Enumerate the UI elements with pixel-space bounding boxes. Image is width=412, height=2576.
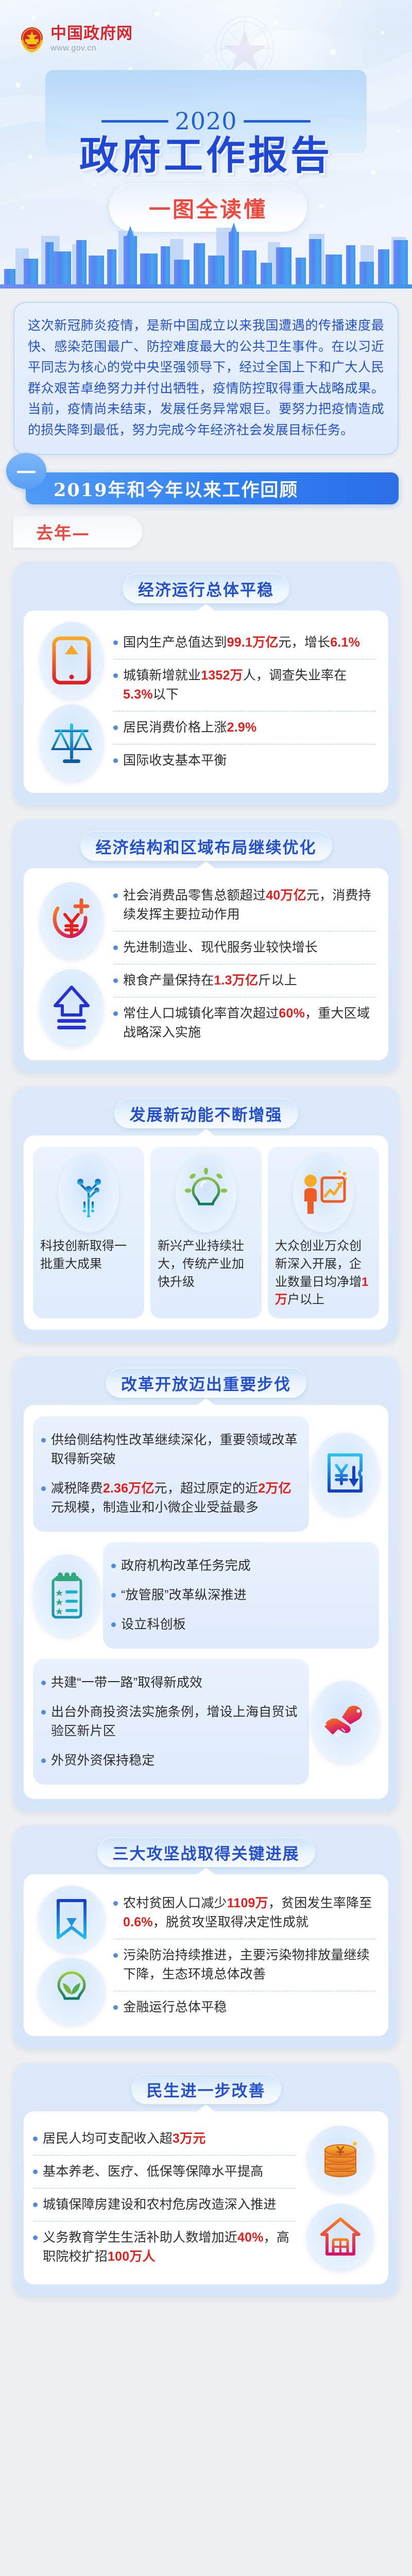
list-item: “放管服”改革纵深推进 [111,1581,371,1610]
bullet-dot [41,1438,46,1443]
card-title: 改革开放迈出重要步伐 [121,1371,291,1395]
coin-stack-icon [307,2126,374,2193]
bullet-highlight: 1.3万亿 [214,973,258,988]
bullet-highlight: 2万亿 [258,1481,291,1496]
card-title: 发展新动能不断增强 [130,1102,283,1125]
bullet-dot [33,2170,38,2174]
handshake-icon [311,1681,379,1763]
bullet-dot [111,1564,116,1568]
lightbulb-icon [176,1154,236,1232]
snow-dot [330,49,336,55]
bullet-text: 减税降费 [51,1481,103,1496]
bullet-dot [41,1758,46,1763]
list-item: 常住人口城镇化率首次超过60%，重大区域战略深入实施 [113,997,376,1049]
bullet-text: 金融运行总体平稳 [123,2000,227,2014]
card-title: 经济结构和区域布局继续优化 [96,835,317,858]
bullet-text: 出台外商投资法实施条例，增设上海自贸试验区新片区 [51,1705,298,1738]
hero-header: 中国政府网 www.gov.cn 2020 政府工作报告 一图全读懂 [0,0,412,289]
page-title: 政府工作报告 [0,124,412,180]
card-notch [197,604,215,611]
icon-column [33,1886,110,2025]
bullet-text: 以下 [153,687,179,702]
bullet-highlight: 40万亿 [266,888,306,903]
list-item: 政府机构改革任务完成 [111,1551,371,1581]
urbanization-arrow-icon [40,969,104,1046]
list-item: 居民人均可支配收入超3万元 [33,2123,296,2155]
bullet-text: 居民消费价格上涨 [123,720,227,735]
list-item: 城镇新增就业1352万人，调查失业率在5.3%以下 [113,659,376,711]
card-title-pill: 发展新动能不断增强 [114,1098,298,1128]
trio-item-emerging-industry: 新兴产业持续壮大，传统产业加快升级 [150,1147,262,1318]
checklist-icon [33,1554,101,1637]
intro-section: 这次新冠肺炎疫情，是新中国成立以来我国遭遇的传播速度最快、感染范围最广、防控难度… [0,289,412,455]
bullet-dot [113,1011,118,1016]
infographic-page: 中国政府网 www.gov.cn 2020 政府工作报告 一图全读懂 [0,0,412,2317]
list-item: 城镇保障房建设和农村危房改造深入推进 [33,2188,296,2221]
list-item: 出台外商投资法实施条例，增设上海自贸试验区新片区 [41,1698,301,1746]
card-notch [197,1398,215,1405]
bullet-text: 社会消费品零售总额超过 [123,888,266,903]
list-item: 粮食产量保持在1.3万亿斤以上 [113,964,376,997]
bullet-dot [113,640,118,645]
panel-text: 政府机构改革任务完成 “放管服”改革纵深推进 设立科创板 [103,1542,379,1649]
bullet-dot [113,758,118,763]
list-item: 居民消费价格上涨2.9% [113,711,376,744]
bullet-list: 社会消费品零售总额超过40万亿元，消费持续发挥主要拉动作用 先进制造业、现代服务… [113,879,379,1049]
trio-text-span: 大众创业万众创新深入开展，企业数量日均净增 [275,1239,362,1289]
trio-text-span: 新兴产业持续壮大，传统产业加快升级 [158,1239,244,1289]
bullet-highlight: 1109万 [227,1896,268,1910]
bullet-text: 先进制造业、现代服务业较快增长 [123,940,318,955]
bullet-highlight: 0.6% [123,1915,153,1929]
bullet-text: “放管服”改革纵深推进 [121,1588,247,1602]
snow-dot [21,206,24,210]
trio-text-span: 户以上 [287,1293,324,1307]
bullet-text: 城镇新增就业 [123,668,201,683]
list-item: 社会消费品零售总额超过40万亿元，消费持续发挥主要拉动作用 [113,879,376,931]
city-skyline-graphic [0,222,412,289]
card-new-drivers: 发展新动能不断增强 [0,1073,412,1342]
trio-text-span: 科技创新取得一批重大成果 [40,1239,127,1271]
snow-dot [93,183,96,186]
bullet-text: 污染防治持续推进，主要污染物排放量继续下降，生态环境总体改善 [123,1948,370,1981]
intro-card: 这次新冠肺炎疫情，是新中国成立以来我国遭遇的传播速度最快、感染范围最广、防控难度… [13,302,399,455]
card-title: 经济运行总体平稳 [138,577,274,600]
bullet-dot [113,1901,118,1906]
section-banner[interactable]: 2019年和今年以来工作回顾 [26,472,399,504]
bullet-highlight: 5.3% [123,687,153,702]
bullet-list: 农村贫困人口减少1109万，贫困发生率降至0.6%，脱贫攻坚取得决定性成就 污染… [113,1886,379,2025]
list-item: 先进制造业、现代服务业较快增长 [113,931,376,964]
bullet-list: 国内生产总值达到99.1万亿元，增长6.1% 城镇新增就业1352万人，调查失业… [113,622,379,782]
tax-cut-icon [311,1433,379,1515]
card-title-pill: 三大攻坚战取得关键进展 [97,1837,315,1867]
card-notch [197,1129,215,1136]
panel-text: 共建“一带一路”取得新成效 出台外商投资法实施条例，增设上海自贸试验区新片区 外… [33,1659,309,1785]
icon-column [302,2123,379,2273]
section-title: 2019年和今年以来工作回顾 [54,476,298,502]
bullet-highlight: 100万人 [108,2249,156,2264]
bullet-text: 元，超过原定的近 [154,1481,259,1496]
card-livelihood: 民生进一步改善 [0,2048,412,2297]
bullet-dot [113,673,118,678]
card-notch [197,1868,215,1875]
bullet-dot [41,1486,46,1491]
bullet-highlight: 60% [279,1006,305,1021]
bullet-text: 国内生产总值达到 [123,635,227,650]
card-notch [197,861,215,869]
panel-opening-up: 共建“一带一路”取得新成效 出台外商投资法实施条例，增设上海自贸试验区新片区 外… [33,1659,379,1785]
snow-dot [154,11,160,17]
list-item: 污染防治持续推进，主要污染物排放量继续下降，生态环境总体改善 [113,1939,376,1991]
subsection-tag: 去年— [13,516,142,548]
trio-item-text: 科技创新取得一批重大成果 [38,1238,139,1274]
bullet-text: 人，调查失业率在 [243,668,347,683]
bullet-text: 基本养老、医疗、低保等保障水平提高 [43,2164,263,2179]
trio-item-text: 新兴产业持续壮大，传统产业加快升级 [156,1238,256,1291]
bullet-highlight: 2.9% [227,720,257,735]
bullet-text: 农村贫困人口减少 [123,1896,227,1910]
bullet-text: 斤以上 [258,973,297,988]
bullet-dot [113,1953,118,1958]
bullet-highlight: 99.1万亿 [227,635,279,650]
bullet-dot [41,1681,46,1685]
bullet-highlight: 1352万 [201,668,243,683]
trio-group: 科技创新取得一批重大成果 [33,1147,379,1318]
bullet-text: 元规模，制造业和小微企业受益最多 [51,1500,259,1515]
card-economy-stable: 经济运行总体平稳 [0,548,412,805]
bullet-text: 居民人均可支配收入超 [43,2131,173,2146]
trio-item-mass-entrepreneurship: 大众创业万众创新深入开展，企业数量日均净增1万户以上 [268,1147,379,1318]
bullet-dot [33,2235,38,2240]
balance-scale-icon [40,704,104,782]
bullet-highlight: 3万元 [173,2131,206,2146]
rule-left [101,120,168,123]
green-leaf-bulb-icon [38,1958,105,2025]
snow-dot [319,204,324,208]
card-title: 民生进一步改善 [147,2078,266,2101]
card-three-battles: 三大攻坚战取得关键进展 [0,1811,412,2048]
bullet-highlight: 6.1% [330,635,360,650]
housing-education-icon [307,2204,374,2270]
bullet-text: 义务教育学生生活补助人数增加近 [43,2230,237,2245]
bullet-text: 元，增长 [278,635,330,650]
snow-dot [15,82,21,88]
list-item: 国内生产总值达到99.1万亿元，增长6.1% [113,626,376,659]
panel-supply-side-reform: 供给侧结构性改革继续深化，重要领域改革取得新突破 减税降费2.36万亿元，超过原… [33,1416,379,1532]
bullet-dot [41,1710,46,1715]
bullet-text: 粮食产量保持在 [123,973,214,988]
trio-item-tech-innovation: 科技创新取得一批重大成果 [33,1147,144,1318]
icon-column [33,879,110,1049]
bullet-highlight: 2.36万亿 [103,1481,154,1496]
card-title-pill: 民生进一步改善 [131,2074,281,2104]
card-title-pill: 改革开放迈出重要步伐 [106,1368,306,1398]
list-item: 减税降费2.36万亿元，超过原定的近2万亿元规模，制造业和小微企业受益最多 [41,1474,301,1522]
presenter-chart-icon [293,1154,354,1232]
bullet-text: 设立科创板 [121,1617,186,1632]
bottom-spacer [0,2297,412,2317]
list-item: 供给侧结构性改革继续深化，重要领域改革取得新突破 [41,1426,301,1474]
bullet-text: 供给侧结构性改革继续深化，重要领域改革取得新突破 [51,1433,298,1466]
bullet-dot [111,1622,116,1627]
card-reform-opening: 改革开放迈出重要步伐 供给侧结构性改革继续深化，重要领域改革取得新突破 减税降费… [0,1342,412,1811]
bullet-text: 国际收支基本平衡 [123,753,227,768]
card-title-pill: 经济运行总体平稳 [123,573,289,603]
card-notch [197,2105,215,2112]
circuit-tech-icon [58,1154,119,1232]
list-item: 共建“一带一路”取得新成效 [41,1668,301,1698]
hero-subtitle: 一图全读懂 [149,192,267,224]
bullet-dot [113,2005,118,2010]
bullet-text: 常住人口城镇化率首次超过 [123,1006,279,1021]
gdp-up-arrow-icon [40,622,104,699]
list-item: 农村贫困人口减少1109万，贫困发生率降至0.6%，脱贫攻坚取得决定性成就 [113,1887,376,1939]
bullet-text: 政府机构改革任务完成 [121,1558,251,1573]
intro-paragraph: 这次新冠肺炎疫情，是新中国成立以来我国遭遇的传播速度最快、感染范围最广、防控难度… [28,315,384,440]
section-number: 一 [16,457,36,485]
icon-column [33,622,110,782]
trio-item-text: 大众创业万众创新深入开展，企业数量日均净增1万户以上 [273,1238,374,1309]
yuan-growth-icon [40,882,104,959]
snow-dot [31,15,36,20]
bullet-dot [33,2202,38,2207]
bullet-dot [113,893,118,898]
bullet-dot [113,945,118,950]
rule-right [244,120,311,123]
bullet-dot [111,1593,116,1598]
list-item: 义务教育学生生活补助人数增加近40%，高职院校扩招100万人 [33,2221,296,2273]
list-item: 外贸外资保持稳定 [41,1746,301,1775]
bullet-dot [113,725,118,730]
section-header: 2019年和今年以来工作回顾 一 去年— [0,455,412,548]
bullet-dot [113,978,118,983]
brand-url: www.gov.cn [50,44,133,53]
brand-name: 中国政府网 [50,25,133,42]
card-title-pill: 经济结构和区域布局继续优化 [80,831,332,861]
bullet-text: ，脱贫攻坚取得决定性成就 [153,1915,308,1929]
panel-text: 供给侧结构性改革继续深化，重要领域改革取得新突破 减税降费2.36万亿元，超过原… [33,1416,309,1532]
list-item: 设立科创板 [111,1610,371,1639]
list-item: 金融运行总体平稳 [113,1991,376,2024]
bullet-text: ，贫困发生率降至 [268,1896,372,1910]
bullet-list: 居民人均可支配收入超3万元 基本养老、医疗、低保等保障水平提高 城镇保障房建设和… [33,2123,299,2273]
bullet-text: 城镇保障房建设和农村危房改造深入推进 [43,2197,277,2212]
poverty-down-icon [38,1886,105,1953]
snow-dot [381,31,385,35]
national-emblem-icon [19,25,45,54]
panel-government-reform: 政府机构改革任务完成 “放管服”改革纵深推进 设立科创板 [33,1542,379,1649]
site-brand[interactable]: 中国政府网 www.gov.cn [19,25,133,54]
list-item: 国际收支基本平衡 [113,744,376,777]
bullet-text: 外贸外资保持稳定 [51,1753,155,1768]
card-title: 三大攻坚战取得关键进展 [113,1841,300,1864]
bullet-text: 共建“一带一路”取得新成效 [51,1675,202,1690]
section-number-badge: 一 [6,453,46,489]
card-economic-structure: 经济结构和区域布局继续优化 [0,805,412,1073]
subsection-tag-label: 去年— [36,519,90,544]
bullet-dot [33,2137,38,2141]
bullet-highlight: 40% [237,2230,264,2245]
list-item: 基本养老、医疗、低保等保障水平提高 [33,2155,296,2188]
